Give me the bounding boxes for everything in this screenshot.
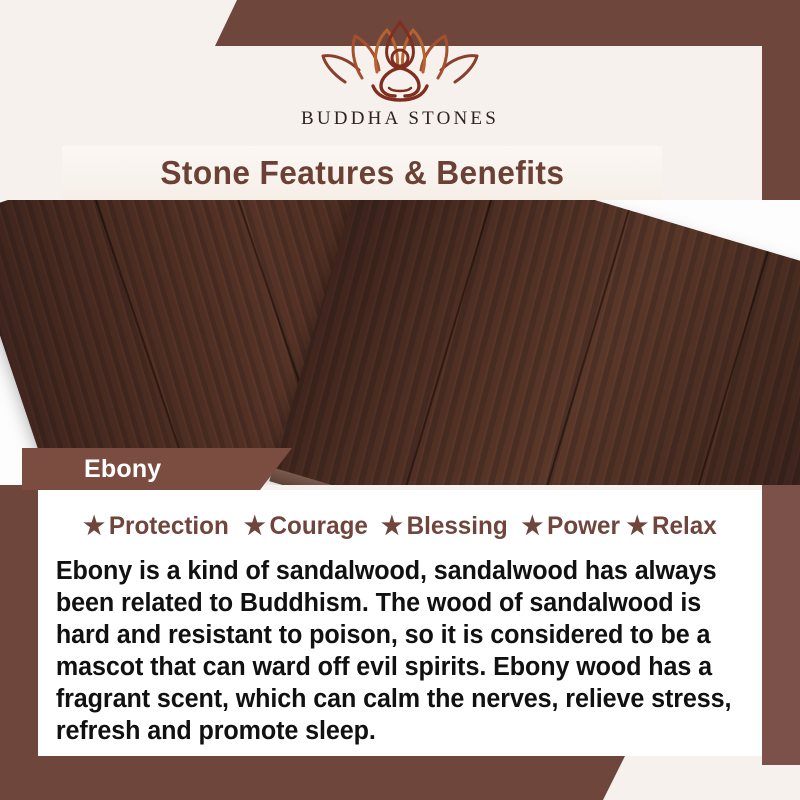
feature-item-protection: ★ Protection: [84, 512, 230, 541]
feature-label: Relax: [652, 512, 717, 541]
feature-label: Power: [547, 512, 620, 541]
description-text: Ebony is a kind of sandalwood, sandalwoo…: [46, 555, 743, 747]
star-icon: ★: [243, 514, 265, 539]
feature-label: Courage: [269, 512, 367, 541]
frame-bar-bottom: [0, 756, 625, 800]
feature-item-relax: ★ Relax: [627, 512, 717, 541]
feature-label: Blessing: [407, 512, 508, 541]
product-label-banner: Ebony: [22, 448, 292, 490]
product-label: Ebony: [84, 455, 161, 484]
feature-list: ★ Protection ★ Courage ★ Blessing ★ Powe…: [46, 512, 754, 541]
brand-header: BUDDHA STONES: [0, 0, 800, 148]
lotus-meditation-icon: [315, 16, 485, 104]
star-icon: ★: [627, 514, 649, 539]
page-title: Stone Features & Benefits: [160, 154, 564, 192]
feature-item-power: ★ Power: [521, 512, 619, 541]
feature-label: Protection: [109, 512, 229, 541]
star-icon: ★: [381, 514, 403, 539]
brand-name: BUDDHA STONES: [301, 108, 499, 130]
feature-item-blessing: ★ Blessing: [381, 512, 508, 541]
star-icon: ★: [521, 514, 543, 539]
star-icon: ★: [84, 514, 106, 539]
infographic-card: BUDDHA STONES Stone Features & Benefits …: [0, 0, 800, 800]
title-banner: Stone Features & Benefits: [62, 146, 662, 200]
content-panel: ★ Protection ★ Courage ★ Blessing ★ Powe…: [38, 490, 762, 756]
product-photo: [0, 200, 800, 485]
wood-plank-group-right: [273, 200, 800, 485]
feature-item-courage: ★ Courage: [243, 512, 367, 541]
